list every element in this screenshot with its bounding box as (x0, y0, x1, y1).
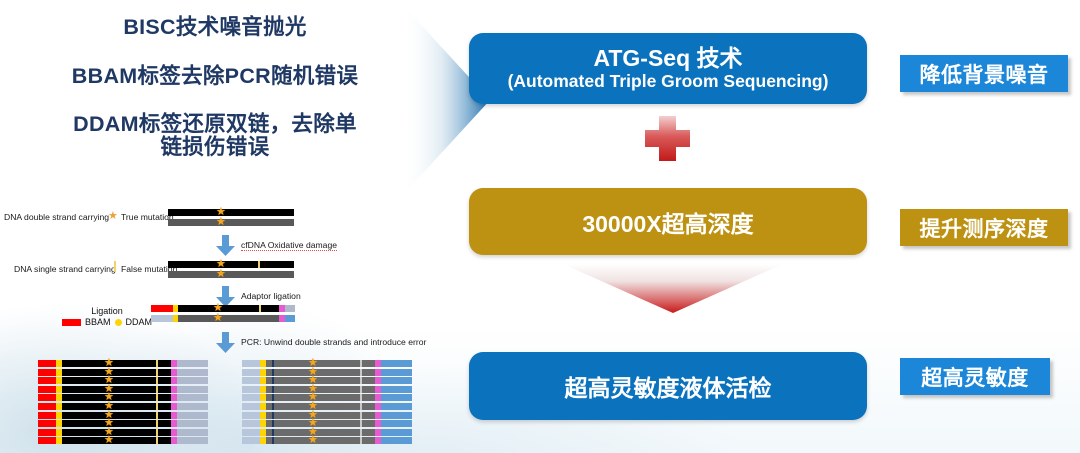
pcr-product-row: ★ (38, 386, 208, 393)
flow-box-depth: 30000X超高深度 (469, 188, 867, 255)
pcr-product-row: ★ (242, 420, 412, 427)
headline-3: DDAM标签还原双链，去除单 链损伤错误 (0, 113, 430, 158)
pcr-product-row: ★ (38, 377, 208, 384)
pcr-product-row: ★ (38, 369, 208, 376)
bbam-swatch-icon (62, 319, 81, 326)
step-label-oxidative-text: cfDNA Oxidative damage (241, 240, 337, 251)
headline-2: BBAM标签去除PCR随机错误 (0, 65, 430, 88)
step-label-pcr: PCR: Unwind double strands and introduce… (241, 337, 426, 347)
false-mutation-tick-icon (114, 261, 116, 272)
flow-box-depth-title: 30000X超高深度 (582, 205, 753, 239)
pcr-products-strand-a: ★★★★★★★★★★ (38, 360, 208, 448)
badge-high-sensitivity-label: 超高灵敏度 (921, 362, 1029, 392)
headline-2-text: BBAM标签去除PCR随机错误 (0, 65, 430, 88)
step-arrow-down-icon-1 (216, 235, 235, 256)
slide-canvas: BISC技术噪音抛光 BBAM标签去除PCR随机错误 DDAM标签还原双链，去除… (0, 0, 1080, 453)
badge-high-sensitivity: 超高灵敏度 (900, 358, 1050, 395)
pcr-product-row: ★ (38, 429, 208, 436)
pcr-product-row: ★ (38, 403, 208, 410)
pcr-product-row: ★ (242, 386, 412, 393)
pcr-product-row: ★ (242, 412, 412, 419)
flow-box-liquid-biopsy: 超高灵敏度液体活检 (469, 352, 867, 420)
pcr-product-row: ★ (242, 369, 412, 376)
duplex-damaged: ★ ★ (168, 261, 294, 278)
pcr-product-row: ★ (242, 377, 412, 384)
flow-box-liquid-biopsy-title: 超高灵敏度液体活检 (565, 369, 772, 403)
pcr-product-row: ★ (38, 437, 208, 444)
pcr-product-row: ★ (38, 420, 208, 427)
pcr-product-row: ★ (38, 412, 208, 419)
pcr-product-row: ★ (242, 429, 412, 436)
schematic-row-2-label: DNA single strand carrying (14, 264, 116, 274)
bisc-workflow-schematic: DNA double strand carrying ★ True mutati… (0, 202, 452, 453)
headline-1: BISC技术噪音抛光 (0, 16, 430, 39)
true-mutation-star-icon: ★ (108, 209, 118, 222)
pcr-product-row: ★ (242, 437, 412, 444)
mutation-star-icon: ★ (308, 435, 318, 446)
legend-items: BBAM DDAM (62, 317, 152, 327)
pcr-product-row: ★ (38, 394, 208, 401)
legend-label-bbam: BBAM (85, 317, 111, 327)
step-arrow-down-icon-3 (216, 332, 235, 353)
legend-label-ddam: DDAM (126, 317, 153, 327)
headline-3-text-line-b: 链损伤错误 (0, 136, 430, 159)
pcr-product-row: ★ (38, 360, 208, 367)
headline-block: BISC技术噪音抛光 BBAM标签去除PCR随机错误 DDAM标签还原双链，去除… (0, 16, 430, 158)
pcr-product-row: ★ (242, 394, 412, 401)
badge-increase-depth-label: 提升测序深度 (920, 213, 1049, 243)
flow-box-atg-seq-title: ATG-Seq 技术 (593, 45, 742, 71)
duplex-normal: ★ ★ (168, 209, 294, 226)
duplex-ligated: ★ ★ (151, 305, 295, 322)
headline-3-text-line-a: DDAM标签还原双链，去除单 (0, 113, 430, 136)
flow-box-atg-seq-subtitle: (Automated Triple Groom Sequencing) (508, 71, 829, 92)
mutation-star-icon: ★ (104, 435, 114, 446)
down-arrow-icon (563, 264, 783, 313)
badge-reduce-noise: 降低背景噪音 (900, 55, 1068, 92)
flow-box-atg-seq: ATG-Seq 技术 (Automated Triple Groom Seque… (469, 33, 867, 104)
plus-icon (643, 114, 692, 163)
headline-1-text: BISC技术噪音抛光 (0, 16, 430, 39)
step-label-oxidative: cfDNA Oxidative damage (241, 240, 337, 250)
ddam-swatch-icon (115, 319, 122, 326)
schematic-legend: Ligation BBAM DDAM (62, 306, 152, 327)
pcr-product-row: ★ (242, 360, 412, 367)
true-mutation-label: True mutation (121, 212, 174, 222)
pcr-product-row: ★ (242, 403, 412, 410)
badge-increase-depth: 提升测序深度 (900, 209, 1068, 246)
legend-title: Ligation (62, 306, 152, 316)
step-label-adaptor: Adaptor ligation (241, 291, 301, 301)
badge-reduce-noise-label: 降低背景噪音 (920, 59, 1049, 89)
pcr-products-strand-b: ★★★★★★★★★★ (242, 360, 412, 448)
schematic-row-1-label: DNA double strand carrying (4, 212, 109, 222)
